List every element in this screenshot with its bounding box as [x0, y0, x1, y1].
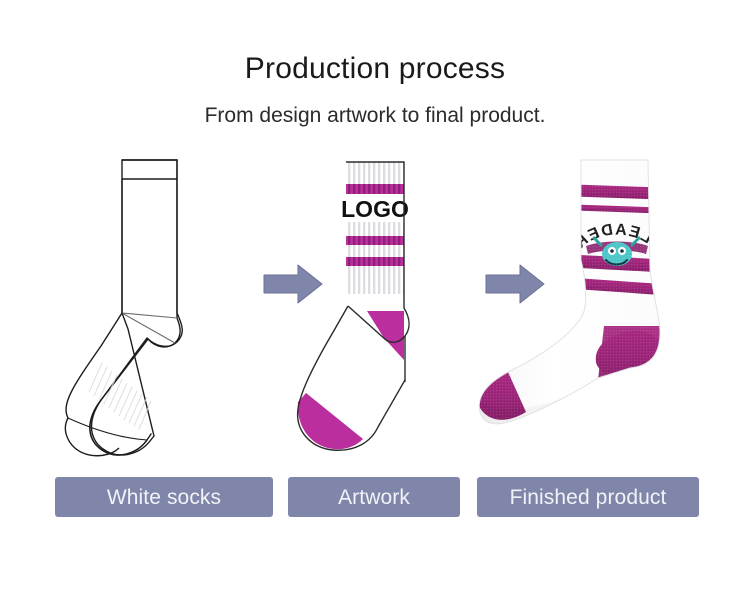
finished-sock-photo: LEADER: [478, 150, 700, 460]
label-bar-artwork[interactable]: Artwork: [288, 477, 460, 517]
finished-sock-body: LEADER: [478, 150, 700, 460]
process-stage: LOGO: [0, 150, 750, 460]
production-process-graphic: Production process From design artwork t…: [0, 0, 750, 610]
sock-outline: [92, 160, 183, 455]
page-subtitle: From design artwork to final product.: [0, 84, 750, 126]
step-white-socks-illustration: [55, 150, 270, 460]
label-text-finished-product: Finished product: [510, 487, 667, 508]
artwork-stripe-block: [346, 162, 404, 294]
label-text-white-socks: White socks: [107, 487, 221, 508]
header: Production process From design artwork t…: [0, 54, 750, 126]
label-text-artwork: Artwork: [338, 487, 410, 508]
label-bar-finished-product[interactable]: Finished product: [477, 477, 699, 517]
step-labels: White socks Artwork Finished product: [0, 477, 750, 517]
step-finished-product-photo: LEADER: [478, 150, 700, 460]
page-title: Production process: [0, 54, 750, 84]
step-artwork-illustration: LOGO: [288, 150, 460, 460]
artwork-sock-mockup: LOGO: [288, 150, 460, 460]
artwork-logo-text: LOGO: [341, 196, 409, 222]
label-bar-white-socks[interactable]: White socks: [55, 477, 273, 517]
white-sock-line-drawing: [55, 150, 270, 460]
